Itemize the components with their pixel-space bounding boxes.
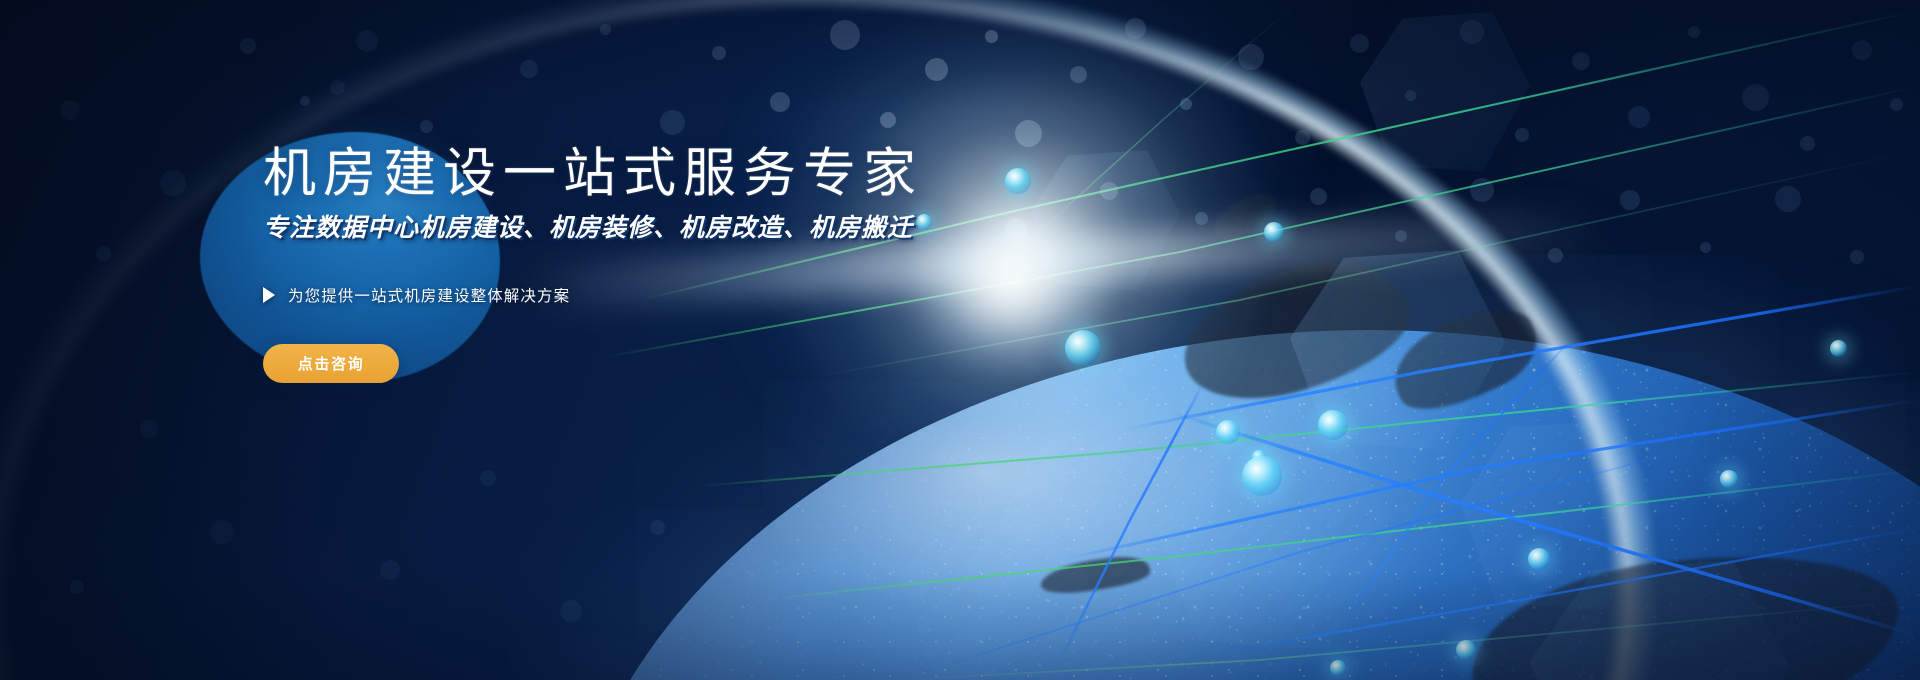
hero-subtitle: 专注数据中心机房建设、机房装修、机房改造、机房搬迁	[263, 214, 1163, 244]
play-triangle-icon	[263, 287, 275, 303]
page-title: 机房建设一站式服务专家	[263, 146, 1163, 201]
tagline-row: 为您提供一站式机房建设整体解决方案	[263, 284, 1163, 306]
hero-banner: 机房建设一站式服务专家 专注数据中心机房建设、机房装修、机房改造、机房搬迁 为您…	[0, 0, 1920, 680]
tagline-text: 为您提供一站式机房建设整体解决方案	[288, 284, 570, 306]
hero-copy-block: 机房建设一站式服务专家 专注数据中心机房建设、机房装修、机房改造、机房搬迁 为您…	[263, 146, 1163, 383]
consult-button[interactable]: 点击咨询	[263, 344, 399, 383]
